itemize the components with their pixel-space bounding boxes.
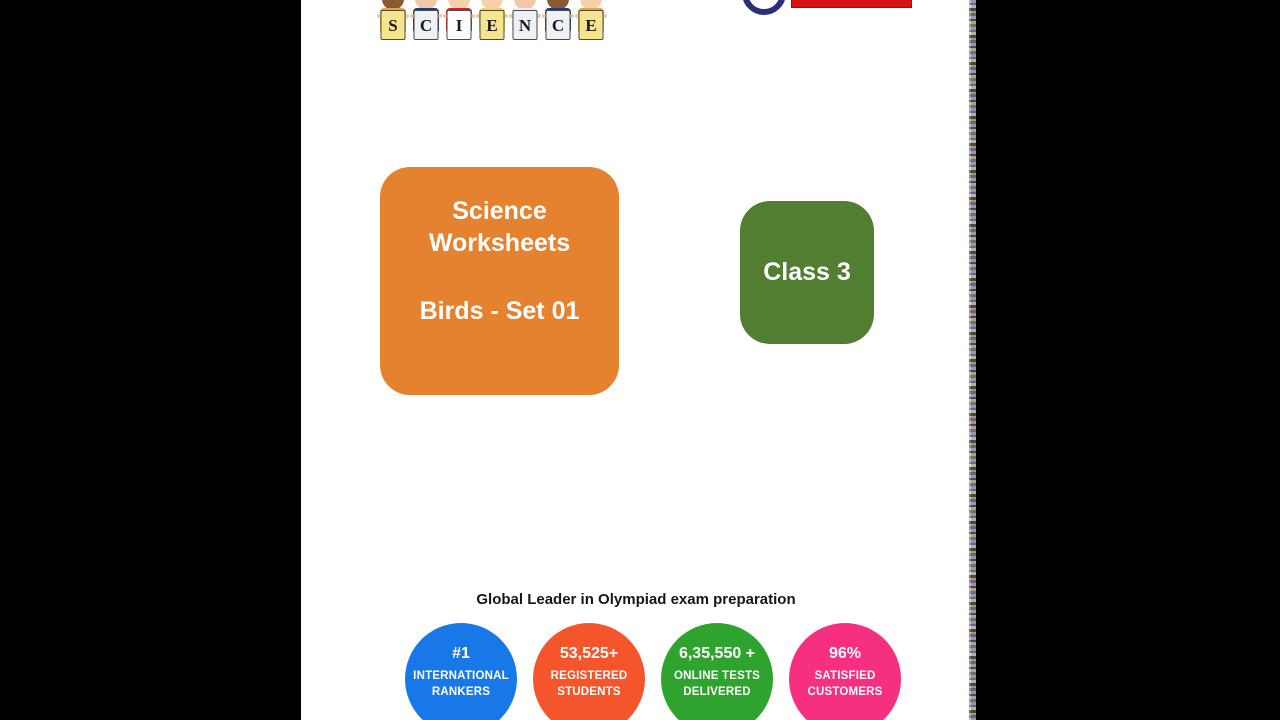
stats-row: #1INTERNATIONALRANKERS53,525+REGISTEREDS… <box>405 623 935 720</box>
stat-label-line1: SATISFIED <box>814 668 875 685</box>
stat-label-line1: INTERNATIONAL <box>413 668 509 685</box>
subject-card-subtitle: Birds - Set 01 <box>420 297 580 326</box>
science-letter-n: N <box>513 10 538 40</box>
science-kid-e-3: E <box>479 0 505 44</box>
stat-label-line1: REGISTERED <box>551 668 628 685</box>
subject-card[interactable]: Science Worksheets Birds - Set 01 <box>380 167 619 395</box>
video-edge-artifact <box>969 0 976 720</box>
olympiad-tester-logo: TESTER <box>742 0 912 16</box>
class-card-label: Class 3 <box>763 258 851 287</box>
stat-circle-3: 96%SATISFIEDCUSTOMERS <box>789 623 901 720</box>
stat-circle-1: 53,525+REGISTEREDSTUDENTS <box>533 623 645 720</box>
science-kids-logo: SCIENCE <box>380 0 618 44</box>
science-kid-e-6: E <box>578 0 604 44</box>
science-kid-n-4: N <box>512 0 538 44</box>
tester-letter-0: T <box>797 0 811 4</box>
stat-label-line2: STUDENTS <box>557 684 621 701</box>
science-kid-i-2: I <box>446 0 472 44</box>
science-kid-c-1: C <box>413 0 439 44</box>
science-letter-c: C <box>546 10 571 40</box>
tester-letter-5: R <box>890 0 906 4</box>
subject-card-title-line2: Worksheets <box>429 227 570 259</box>
stat-label-line2: CUSTOMERS <box>807 684 882 701</box>
tagline: Global Leader in Olympiad exam preparati… <box>301 591 971 608</box>
science-letter-c: C <box>414 10 439 40</box>
stat-number: 6,35,550 + <box>679 645 755 663</box>
video-frame: SCIENCE TESTER Science Worksheets Birds … <box>0 0 1280 720</box>
stat-label-line1: ONLINE TESTS <box>674 668 760 685</box>
tester-letter-1: E <box>815 0 830 4</box>
stat-circle-2: 6,35,550 +ONLINE TESTSDELIVERED <box>661 623 773 720</box>
subject-card-title-line1: Science <box>429 195 570 227</box>
tester-letter-3: T <box>853 0 867 4</box>
science-letter-e: E <box>579 10 604 40</box>
stat-label-line2: RANKERS <box>432 684 490 701</box>
stat-label-line2: DELIVERED <box>683 684 751 701</box>
slide-page: SCIENCE TESTER Science Worksheets Birds … <box>301 0 971 720</box>
science-letter-e: E <box>480 10 505 40</box>
science-letter-s: S <box>381 10 406 40</box>
science-letter-i: I <box>447 10 472 40</box>
stat-number: 53,525+ <box>560 645 618 663</box>
tester-letter-4: E <box>871 0 886 4</box>
olympiad-tester-mark-icon <box>742 0 786 15</box>
subject-card-title: Science Worksheets <box>429 195 570 259</box>
class-card[interactable]: Class 3 <box>740 201 874 344</box>
stat-number: 96% <box>829 645 861 663</box>
science-kid-c-5: C <box>545 0 571 44</box>
tester-letter-2: S <box>834 0 849 4</box>
tester-wordmark: TESTER <box>791 0 912 8</box>
stat-number: #1 <box>452 645 470 663</box>
stat-circle-0: #1INTERNATIONALRANKERS <box>405 623 517 720</box>
science-kid-s-0: S <box>380 0 406 44</box>
